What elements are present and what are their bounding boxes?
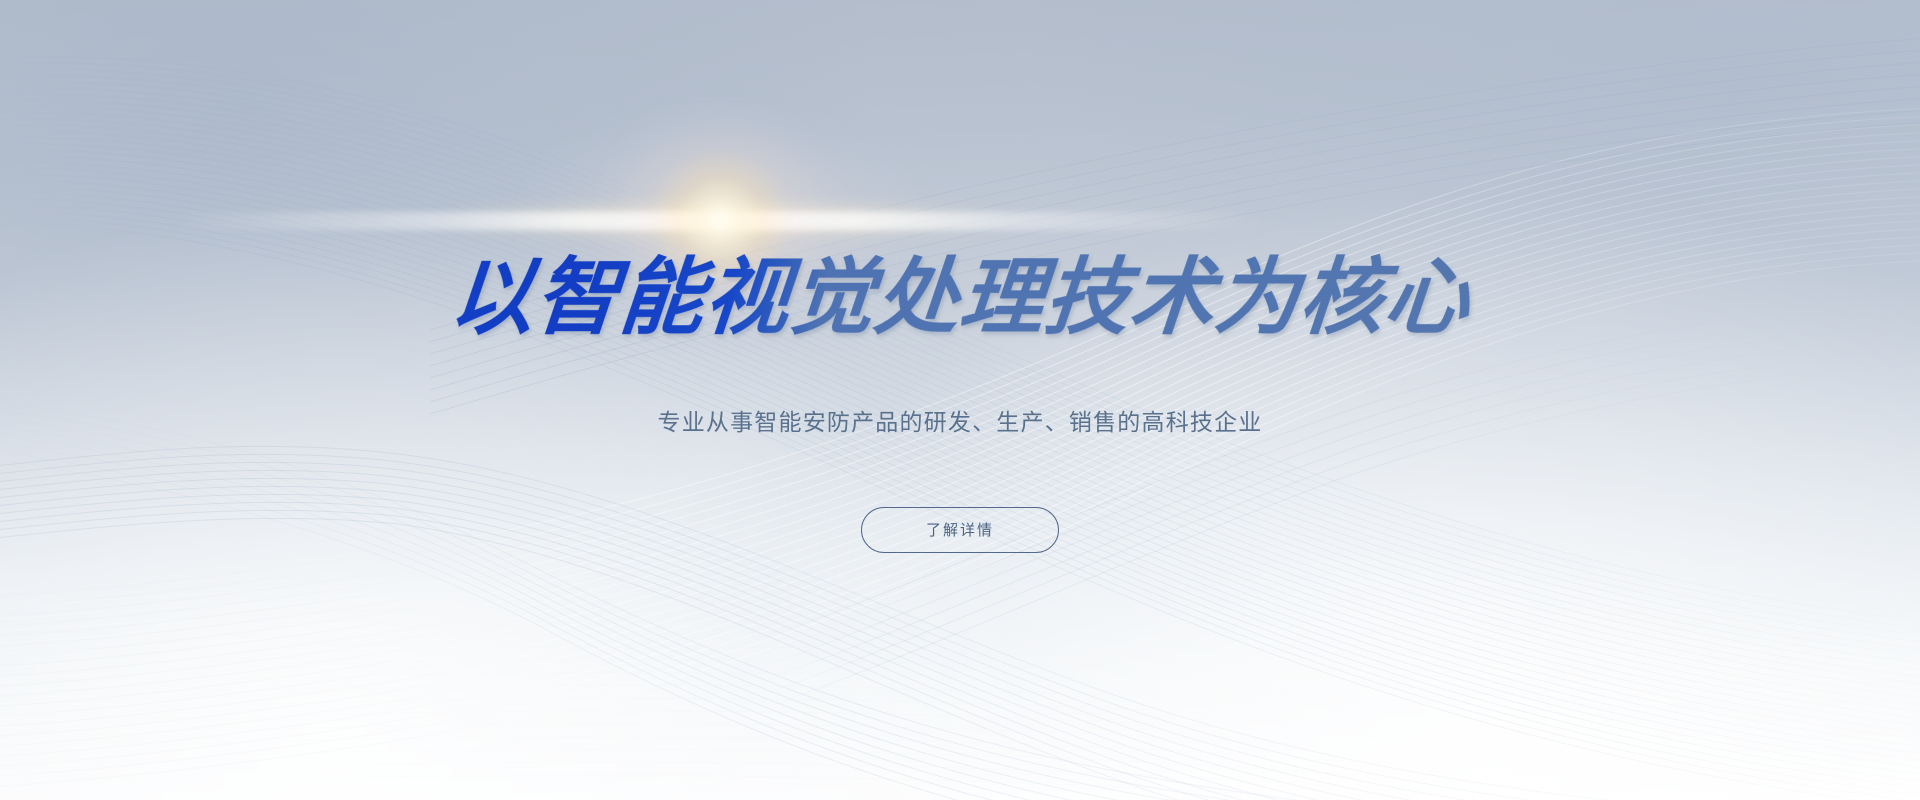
hero-content: 以智能视觉处理技术为核心 专业从事智能安防产品的研发、生产、销售的高科技企业 了… bbox=[0, 0, 1920, 800]
learn-more-button[interactable]: 了解详情 bbox=[861, 507, 1059, 553]
cta-container: 了解详情 bbox=[0, 507, 1920, 553]
hero-banner: 以智能视觉处理技术为核心 专业从事智能安防产品的研发、生产、销售的高科技企业 了… bbox=[0, 0, 1920, 800]
hero-subtitle: 专业从事智能安防产品的研发、生产、销售的高科技企业 bbox=[0, 403, 1920, 437]
page-title: 以智能视觉处理技术为核心 bbox=[0, 250, 1920, 344]
